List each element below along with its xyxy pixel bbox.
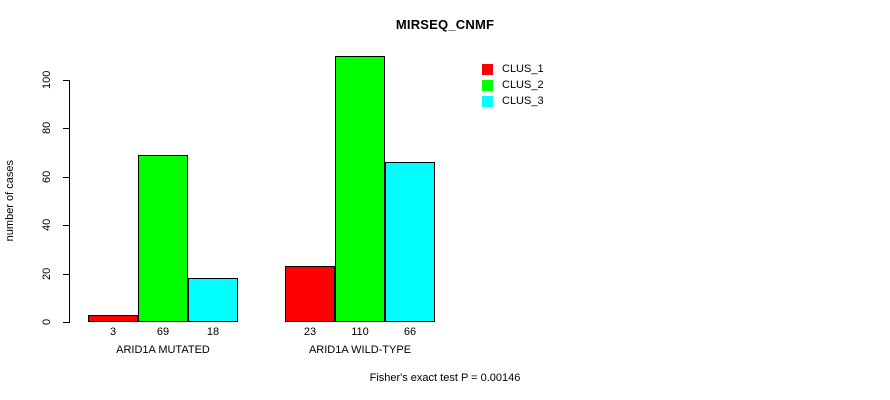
legend-color-swatch <box>482 64 493 75</box>
y-axis-tick-label: 40 <box>42 211 56 239</box>
bar-value-label: 66 <box>385 326 435 338</box>
y-axis-tick <box>63 225 69 226</box>
y-axis-title: number of cases <box>4 160 16 241</box>
bar-value-label: 110 <box>335 326 385 338</box>
bar-value-label: 23 <box>285 326 335 338</box>
y-axis-tick-label: 20 <box>42 260 56 288</box>
y-axis-tick-label: 100 <box>42 66 56 94</box>
chart-title: MIRSEQ_CNMF <box>0 17 890 32</box>
bar-value-label: 69 <box>138 326 188 338</box>
y-axis-tick <box>63 80 69 81</box>
y-axis-tick <box>63 177 69 178</box>
bar-value-label: 18 <box>188 326 238 338</box>
statistical-test-annotation: Fisher's exact test P = 0.00146 <box>0 372 890 384</box>
y-axis-tick <box>63 322 69 323</box>
bar <box>335 56 385 322</box>
bar <box>138 155 188 322</box>
chart-legend: CLUS_1CLUS_2CLUS_3 <box>482 61 544 109</box>
y-axis-tick-label: 0 <box>42 308 56 336</box>
y-axis-tick <box>63 128 69 129</box>
legend-item: CLUS_3 <box>482 93 544 109</box>
x-axis-group-label: ARID1A WILD-TYPE <box>285 344 435 356</box>
y-axis-tick-label: 60 <box>42 163 56 191</box>
bar <box>188 278 238 322</box>
legend-color-swatch <box>482 80 493 91</box>
legend-item-label: CLUS_1 <box>502 63 544 75</box>
legend-item-label: CLUS_2 <box>502 79 544 91</box>
bar-chart: MIRSEQ_CNMF 020406080100 number of cases… <box>0 0 890 400</box>
legend-item-label: CLUS_3 <box>502 95 544 107</box>
y-axis-tick-label: 80 <box>42 114 56 142</box>
y-axis-tick <box>63 274 69 275</box>
bar-value-label: 3 <box>88 326 138 338</box>
legend-item: CLUS_2 <box>482 77 544 93</box>
bar <box>385 162 435 322</box>
y-axis-line <box>69 80 70 323</box>
x-axis-group-label: ARID1A MUTATED <box>88 344 238 356</box>
bar <box>285 266 335 322</box>
legend-item: CLUS_1 <box>482 61 544 77</box>
legend-color-swatch <box>482 96 493 107</box>
bar <box>88 315 138 322</box>
